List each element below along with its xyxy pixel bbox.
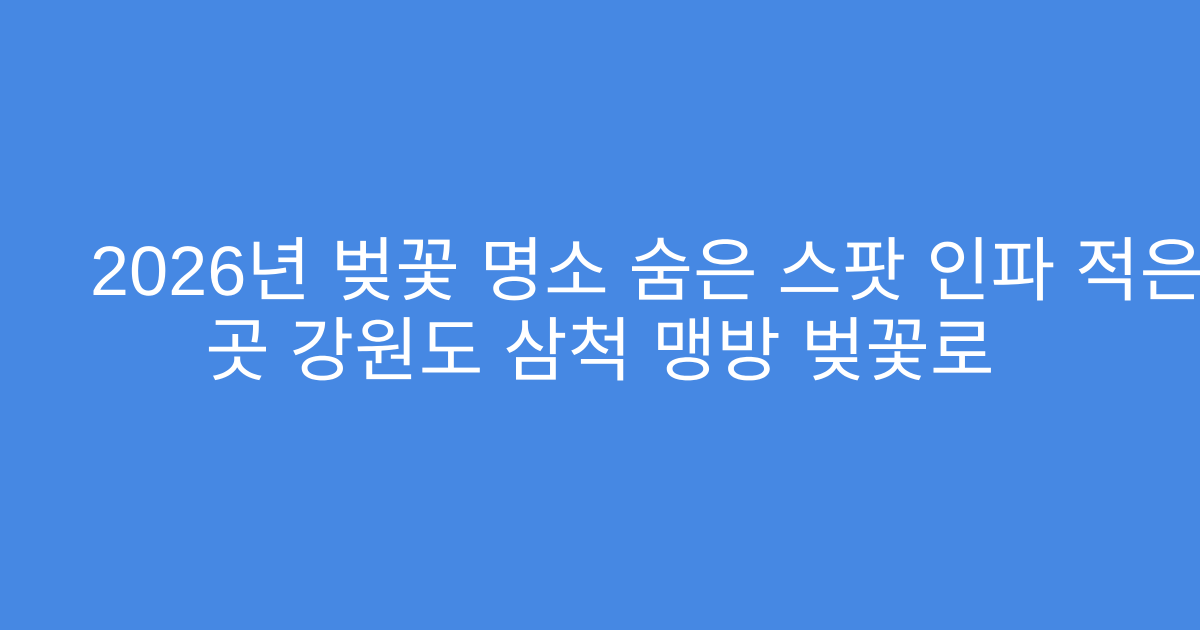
page-title: 2026년 벚꽃 명소 숨은 스팟 인파 적은 곳 강원도 삼척 맹방 벚꽃로 bbox=[50, 231, 1150, 391]
og-title-card: 2026년 벚꽃 명소 숨은 스팟 인파 적은 곳 강원도 삼척 맹방 벚꽃로 bbox=[0, 0, 1200, 630]
title-line-1: 2026년 벚꽃 명소 숨은 스팟 인파 적은 bbox=[90, 231, 1110, 311]
title-line-2: 곳 강원도 삼척 맹방 벚꽃로 bbox=[90, 311, 1110, 391]
